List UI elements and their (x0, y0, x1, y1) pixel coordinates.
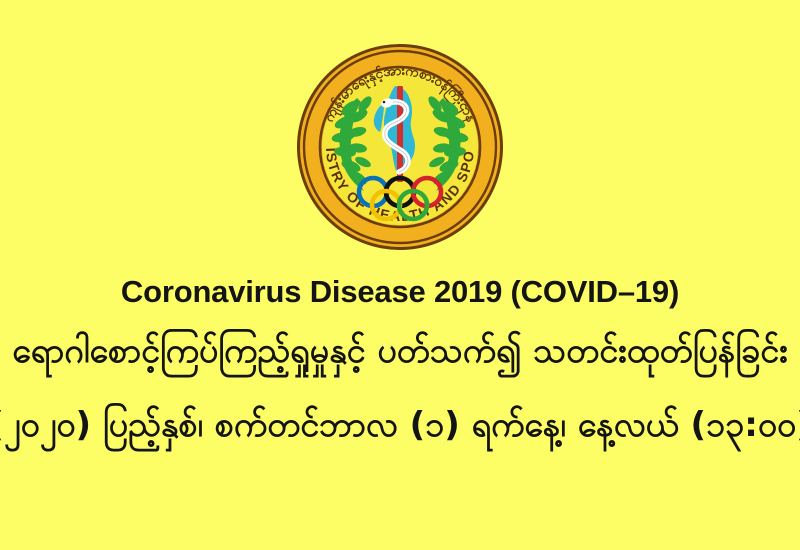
burmese-headline-line-2: (၂၀၂၀) ပြည့်နှစ်၊ စက်တင်ဘာလ (၁) ရက်နေ့၊ … (0, 388, 800, 462)
announcement-text-block: Coronavirus Disease 2019 (COVID–19) ရောဂ… (0, 268, 800, 462)
burmese-headline-line-1: ရောဂါစောင့်ကြပ်ကြည့်ရှုမှုနှင့် ပတ်သက်၍ … (0, 314, 800, 388)
ministry-emblem: ကျန်းမာရေးနှင့်အားကစားဝန်ကြီးဌာန MINISTR… (295, 42, 505, 252)
page-title: Coronavirus Disease 2019 (COVID–19) (0, 268, 800, 314)
covid-announcement-poster: ကျန်းမာရေးနှင့်အားကစားဝန်ကြီးဌာန MINISTR… (0, 0, 800, 550)
